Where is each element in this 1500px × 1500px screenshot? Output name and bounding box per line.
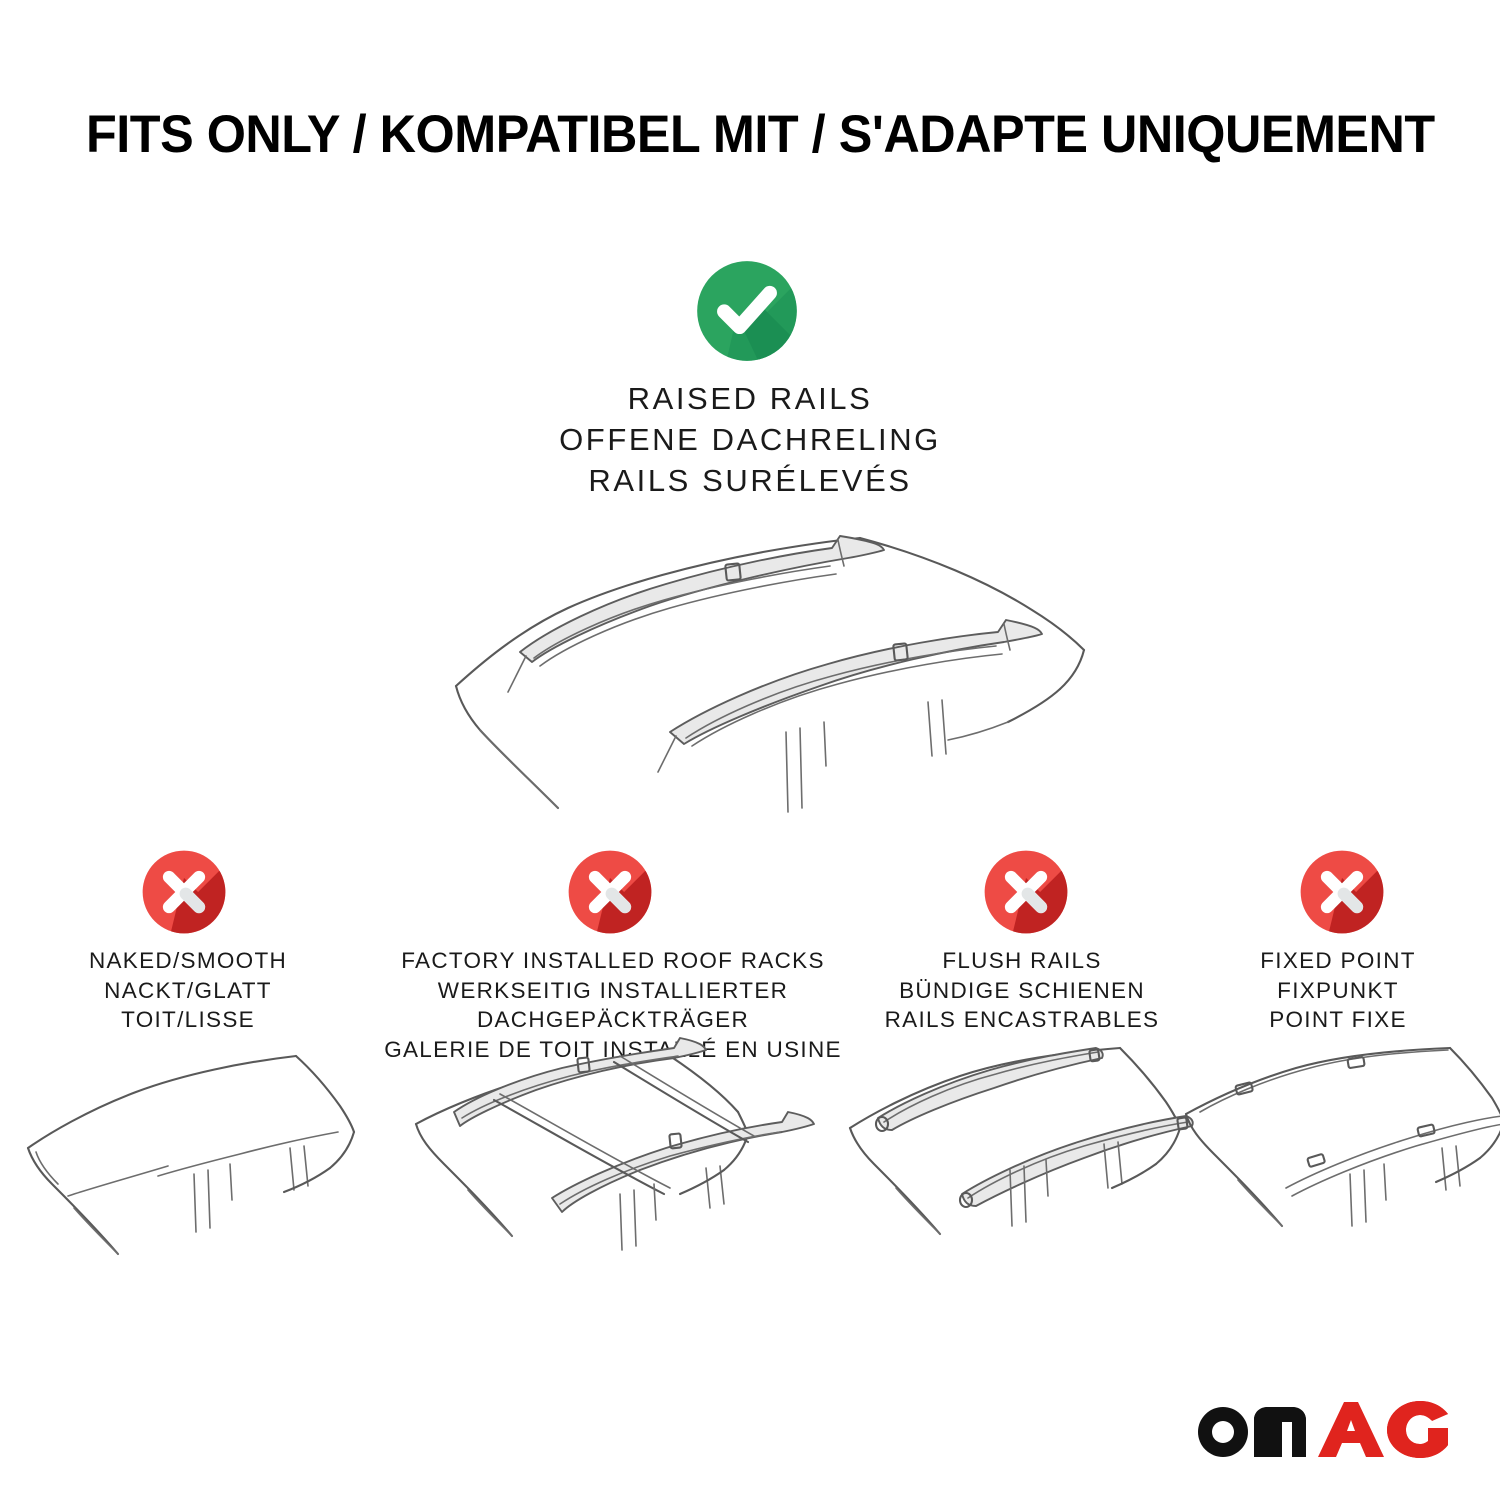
compatible-label-line-1: RAISED RAILS	[450, 378, 1050, 419]
car-roof-factory-installed-roof-racks-illustration	[402, 1056, 802, 1286]
compatible-label-line-2: OFFENE DACHRELING	[450, 419, 1050, 460]
car-roof-fixed-point-illustration	[1166, 1048, 1500, 1278]
car-roof-flush-rails-illustration	[834, 1048, 1214, 1278]
incompatible-label-line-1: FIXED POINT	[1178, 946, 1498, 976]
compatible-label: RAISED RAILS OFFENE DACHRELING RAILS SUR…	[450, 378, 1050, 501]
car-roof-naked-smooth-illustration	[8, 1048, 368, 1278]
incompatible-label-line-1: FACTORY INSTALLED ROOF RACKS	[378, 946, 848, 976]
icon-wrap	[378, 848, 848, 944]
cross-circle-icon	[982, 848, 1070, 936]
incompatible-item-naked-smooth: NAKED/SMOOTH NACKT/GLATT TOIT/LISSE	[8, 848, 368, 1288]
incompatible-label-line-1: FLUSH RAILS	[842, 946, 1202, 976]
check-circle-icon	[694, 258, 800, 364]
icon-wrap	[8, 848, 368, 944]
omac-logo	[1192, 1398, 1452, 1460]
car-roof-with-raised-rails-illustration	[408, 516, 1098, 826]
incompatible-label: FACTORY INSTALLED ROOF RACKS WERKSEITIG …	[378, 946, 848, 1064]
incompatible-label-line-3: RAILS ENCASTRABLES	[842, 1005, 1202, 1035]
cross-circle-icon	[1298, 848, 1386, 936]
incompatible-label-line-3: TOIT/LISSE	[8, 1005, 368, 1035]
page-title: FITS ONLY / KOMPATIBEL MIT / S'ADAPTE UN…	[86, 104, 1359, 166]
incompatible-label: FIXED POINT FIXPUNKT POINT FIXE	[1178, 946, 1498, 1035]
incompatible-label-line-2: BÜNDIGE SCHIENEN	[842, 976, 1202, 1006]
incompatible-label: NAKED/SMOOTH NACKT/GLATT TOIT/LISSE	[8, 946, 368, 1035]
compatible-label-line-3: RAILS SURÉLEVÉS	[450, 460, 1050, 501]
incompatible-item-flush-rails: FLUSH RAILS BÜNDIGE SCHIENEN RAILS ENCAS…	[842, 848, 1202, 1288]
cross-circle-icon	[140, 848, 228, 936]
incompatible-item-fixed-point: FIXED POINT FIXPUNKT POINT FIXE	[1178, 848, 1498, 1288]
incompatible-label: FLUSH RAILS BÜNDIGE SCHIENEN RAILS ENCAS…	[842, 946, 1202, 1035]
icon-wrap	[842, 848, 1202, 944]
incompatible-label-line-3: DACHGEPÄCKTRÄGER	[378, 1005, 848, 1035]
incompatible-label-line-3: POINT FIXE	[1178, 1005, 1498, 1035]
incompatible-label-line-2: NACKT/GLATT	[8, 976, 368, 1006]
icon-wrap	[1178, 848, 1498, 944]
incompatible-item-factory-roof-racks: FACTORY INSTALLED ROOF RACKS WERKSEITIG …	[378, 848, 848, 1288]
incompatible-label-line-1: NAKED/SMOOTH	[8, 946, 368, 976]
incompatible-label-line-2: FIXPUNKT	[1178, 976, 1498, 1006]
cross-circle-icon	[566, 848, 654, 936]
incompatible-label-line-2: WERKSEITIG INSTALLIERTER	[378, 976, 848, 1006]
